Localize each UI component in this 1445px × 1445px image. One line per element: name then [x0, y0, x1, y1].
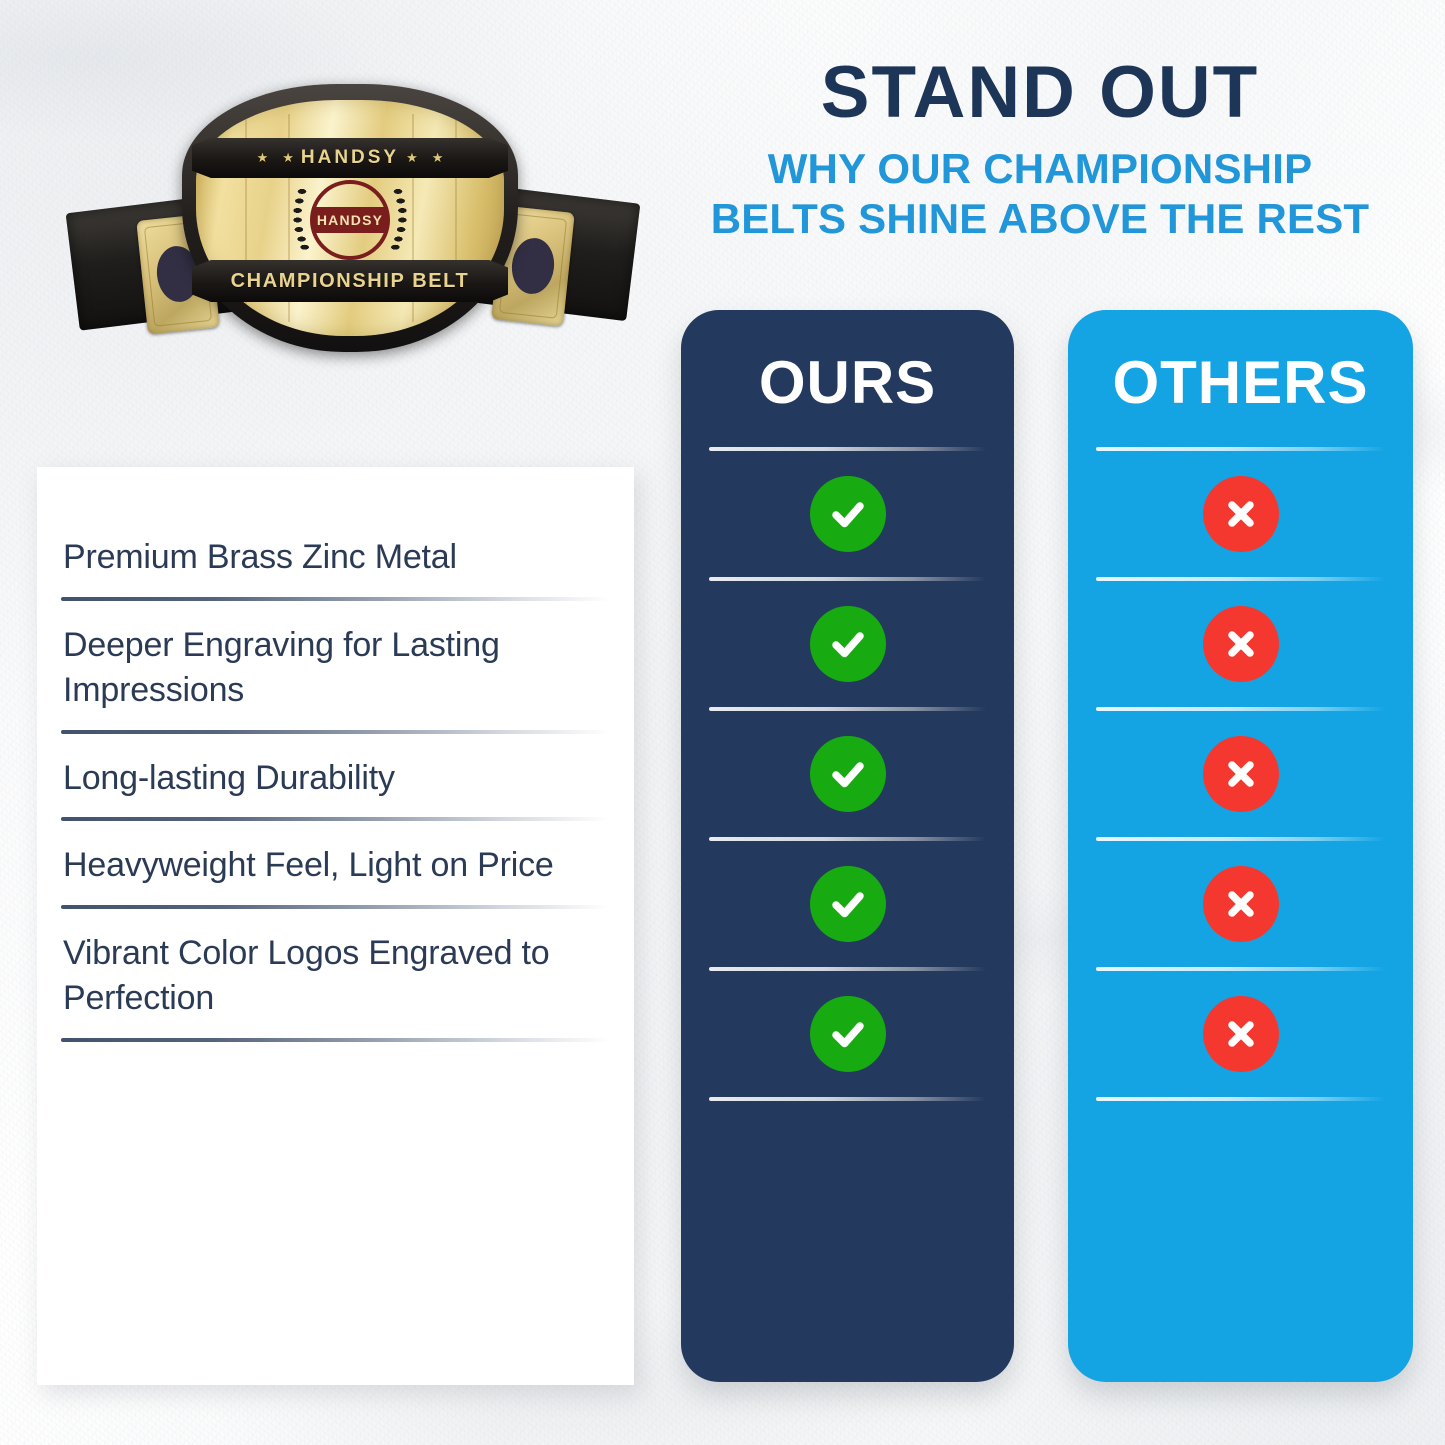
belt-star-icon: ★: [432, 150, 444, 166]
list-item: Long-lasting Durability: [61, 750, 610, 822]
check-icon: [810, 996, 886, 1072]
features-panel: Premium Brass Zinc Metal Deeper Engravin…: [37, 467, 634, 1385]
list-item: Deeper Engraving for Lasting Impressions: [61, 617, 610, 734]
check-icon: [810, 736, 886, 812]
feature-label: Premium Brass Zinc Metal: [61, 529, 610, 595]
page-subtitle: WHY OUR CHAMPIONSHIP BELTS SHINE ABOVE T…: [660, 144, 1420, 243]
belt-bottom-banner: CHAMPIONSHIP BELT: [192, 260, 508, 302]
poster-canvas: ★ ★ HANDSY ★ ★ HANDSY CHAMPIONSHIP BELT …: [0, 0, 1445, 1445]
cross-icon: [1203, 996, 1279, 1072]
feature-label: Deeper Engraving for Lasting Impressions: [61, 617, 610, 728]
belt-banner-text: CHAMPIONSHIP BELT: [231, 270, 470, 293]
check-icon: [810, 866, 886, 942]
cross-icon: [1203, 476, 1279, 552]
card-divider: [709, 1097, 986, 1101]
cross-icon: [1203, 736, 1279, 812]
belt-star-icon: ★: [257, 150, 269, 166]
check-icon: [810, 476, 886, 552]
feature-label: Vibrant Color Logos Engraved to Perfecti…: [61, 925, 610, 1036]
belt-center-logo: HANDSY: [291, 182, 409, 258]
headline-block: STAND OUT WHY OUR CHAMPIONSHIP BELTS SHI…: [660, 56, 1420, 244]
belt-logo-text: HANDSY: [317, 212, 383, 228]
card-divider: [1096, 1097, 1385, 1101]
ours-mark-rows: [681, 447, 1014, 1101]
belt-star-icon: ★: [406, 150, 418, 166]
page-title: STAND OUT: [660, 56, 1420, 130]
table-row: [709, 711, 986, 837]
championship-belt-image: ★ ★ HANDSY ★ ★ HANDSY CHAMPIONSHIP BELT: [60, 62, 635, 362]
feature-divider: [61, 1038, 610, 1042]
page-subtitle-line-1: WHY OUR CHAMPIONSHIP: [660, 144, 1420, 194]
feature-divider: [61, 597, 610, 601]
table-row: [709, 451, 986, 577]
list-item: Heavyweight Feel, Light on Price: [61, 837, 610, 909]
table-row: [709, 841, 986, 967]
list-item: Vibrant Color Logos Engraved to Perfecti…: [61, 925, 610, 1042]
table-row: [1096, 971, 1385, 1097]
table-row: [1096, 451, 1385, 577]
cross-icon: [1203, 866, 1279, 942]
feature-divider: [61, 905, 610, 909]
table-row: [1096, 581, 1385, 707]
table-row: [709, 581, 986, 707]
cross-icon: [1203, 606, 1279, 682]
feature-label: Heavyweight Feel, Light on Price: [61, 837, 610, 903]
check-icon: [810, 606, 886, 682]
table-row: [1096, 841, 1385, 967]
belt-brand-text: HANDSY: [301, 147, 399, 169]
others-mark-rows: [1068, 447, 1413, 1101]
features-list: Premium Brass Zinc Metal Deeper Engravin…: [37, 467, 634, 1042]
list-item: Premium Brass Zinc Metal: [61, 529, 610, 601]
comparison-card-others: OTHERS: [1068, 310, 1413, 1382]
table-row: [1096, 711, 1385, 837]
card-title-others: OTHERS: [1068, 310, 1413, 417]
comparison-card-ours: OURS: [681, 310, 1014, 1382]
belt-logo-circle: HANDSY: [310, 180, 390, 260]
feature-label: Long-lasting Durability: [61, 750, 610, 816]
laurel-wreath-right-icon: [387, 186, 409, 254]
belt-star-icon: ★: [282, 150, 294, 166]
belt-main-plate: ★ ★ HANDSY ★ ★ HANDSY CHAMPIONSHIP BELT: [182, 84, 518, 352]
card-title-ours: OURS: [681, 310, 1014, 417]
feature-divider: [61, 817, 610, 821]
belt-top-banner: ★ ★ HANDSY ★ ★: [192, 138, 508, 178]
table-row: [709, 971, 986, 1097]
page-subtitle-line-2: BELTS SHINE ABOVE THE REST: [660, 194, 1420, 244]
feature-divider: [61, 730, 610, 734]
